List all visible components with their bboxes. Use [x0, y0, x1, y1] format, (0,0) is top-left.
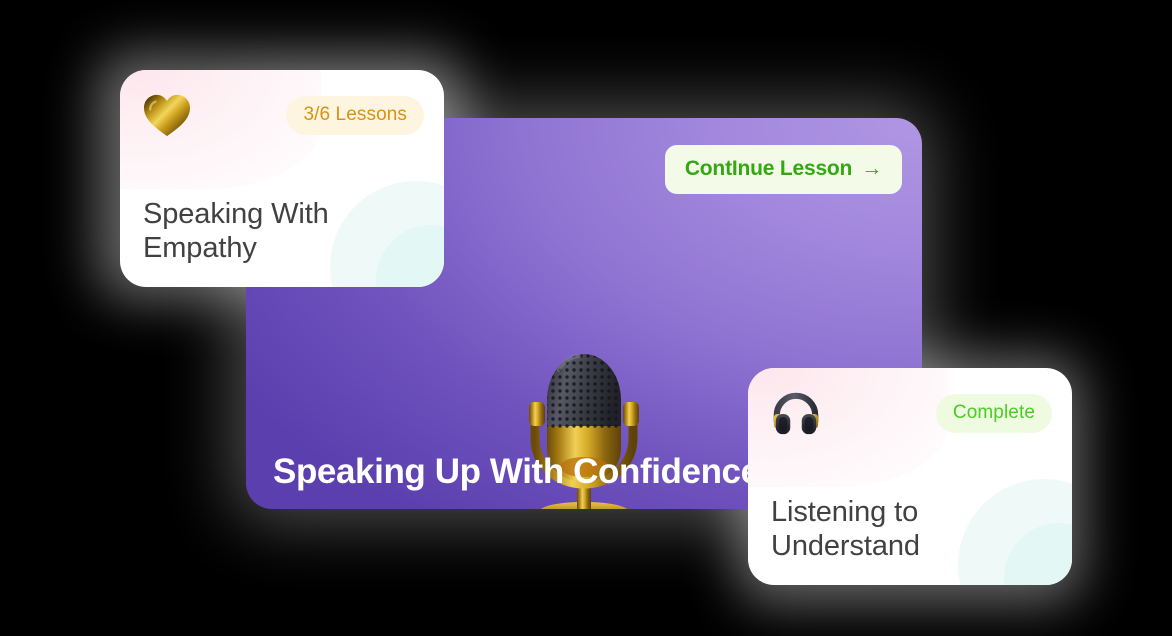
lesson-card-title-line2: Empathy — [143, 231, 329, 265]
lesson-card-title-line2: Understand — [771, 529, 920, 563]
gold-heart-icon — [142, 92, 192, 145]
lesson-card-title: Listening to Understand — [771, 495, 920, 563]
hero-title: Speaking Up With Confidence — [273, 454, 760, 489]
card-mint-blob-small — [376, 225, 444, 287]
completion-status-badge: Complete — [936, 394, 1052, 433]
card-mint-blob-small — [1004, 523, 1072, 585]
lesson-card-listening-to-understand[interactable]: Complete Listening to Understand — [748, 368, 1072, 585]
composition-stage: ContInue Lesson → Speaking Up With Confi… — [0, 0, 1172, 636]
card-mint-blob-large — [958, 479, 1072, 585]
continue-lesson-label: ContInue Lesson — [685, 158, 852, 179]
lesson-card-title-line1: Speaking With — [143, 197, 329, 231]
card-mint-blob-large — [330, 181, 444, 287]
lesson-card-speaking-with-empathy[interactable]: 3/6 Lessons Speaking With Empathy — [120, 70, 444, 287]
arrow-right-icon: → — [861, 158, 882, 179]
lessons-progress-label: 3/6 Lessons — [303, 105, 407, 124]
lesson-card-title: Speaking With Empathy — [143, 197, 329, 265]
completion-status-label: Complete — [953, 403, 1035, 422]
headphones-icon — [770, 390, 822, 442]
continue-lesson-button[interactable]: ContInue Lesson → — [665, 145, 902, 194]
lessons-progress-badge: 3/6 Lessons — [286, 96, 424, 135]
lesson-card-title-line1: Listening to — [771, 495, 920, 529]
